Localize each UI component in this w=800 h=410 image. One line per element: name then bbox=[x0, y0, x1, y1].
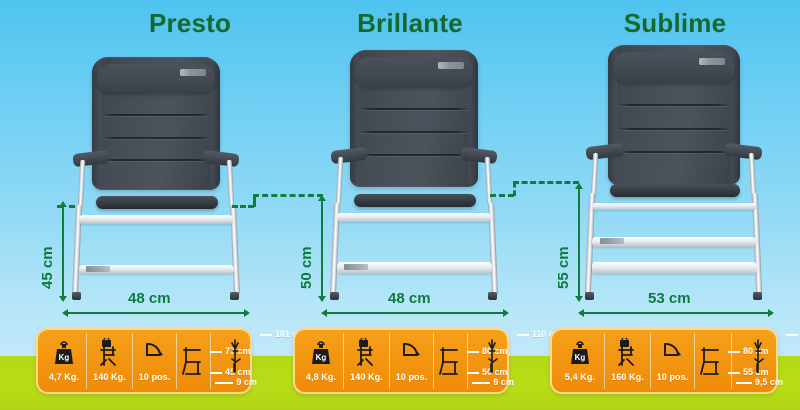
guide-line-presto-left bbox=[57, 205, 75, 208]
weight-value-sublime: 5,4 Kg. bbox=[565, 372, 595, 382]
chair-max-load-icon bbox=[615, 336, 641, 370]
spec-dimensions-sublime: 80 cm 55 cm bbox=[694, 333, 731, 389]
upper-crossbar bbox=[592, 203, 756, 210]
height-line-sublime bbox=[578, 188, 580, 298]
width-arrow-left-brillante bbox=[321, 309, 327, 317]
weight-kg-icon: Kg bbox=[309, 336, 333, 370]
seat-height-label-sublime: 55 cm bbox=[555, 246, 572, 289]
spec-dimensions-brillante: 80 cm 50 cm bbox=[433, 333, 467, 389]
frame-brand-logo-icon bbox=[86, 266, 110, 272]
cushion-seam bbox=[617, 151, 731, 153]
spec-maxload-presto: 140 Kg. bbox=[86, 333, 132, 389]
height-arrow-down-brillante bbox=[318, 296, 326, 302]
width-arrow-right-sublime bbox=[768, 309, 774, 317]
maxload-value-sublime: 160 Kg. bbox=[611, 372, 644, 382]
frame-brand-logo-icon bbox=[344, 264, 368, 270]
brand-logo-icon bbox=[699, 58, 725, 65]
folded-height-row-sublime: 115 cm bbox=[786, 329, 800, 339]
spec-maxload-brillante: 140 Kg. bbox=[343, 333, 389, 389]
foot-left bbox=[330, 292, 339, 300]
product-title-sublime: Sublime bbox=[575, 8, 775, 39]
chair-max-load-icon bbox=[97, 336, 123, 370]
comparison-infographic: Presto Brillante Sublime 45 cm 48 cm bbox=[0, 0, 800, 410]
cushion-seam bbox=[617, 128, 731, 130]
upper-crossbar bbox=[337, 213, 491, 222]
spec-weight-presto: Kg 4,7 Kg. bbox=[42, 333, 86, 389]
frame-brand-logo-icon bbox=[600, 238, 624, 244]
width-arrow-left-presto bbox=[62, 309, 68, 317]
spec-positions-presto: 10 pos. bbox=[132, 333, 176, 389]
foot-right bbox=[230, 292, 239, 300]
chair-max-load-icon bbox=[354, 336, 380, 370]
spec-positions-brillante: 10 pos. bbox=[389, 333, 433, 389]
cushion-seam bbox=[359, 131, 469, 133]
guide-line-to-sublime bbox=[513, 181, 579, 184]
brand-logo-icon bbox=[180, 69, 206, 76]
chair-side-dimensions-icon bbox=[181, 345, 207, 379]
headrest-cushion bbox=[613, 52, 734, 83]
spec-maxload-sublime: 160 Kg. bbox=[604, 333, 650, 389]
spec-positions-sublime: 10 pos. bbox=[650, 333, 694, 389]
folded-chair-dimensions-icon bbox=[484, 339, 502, 373]
folded-chair-dimensions-icon bbox=[227, 339, 245, 373]
weight-value-presto: 4,7 Kg. bbox=[49, 372, 79, 382]
chair-backrest-sublime bbox=[608, 45, 740, 185]
seat-height-label-presto: 45 cm bbox=[39, 246, 56, 289]
folded-width-row-sublime: 9,5 cm bbox=[736, 377, 783, 387]
chair-backrest-brillante bbox=[350, 50, 478, 187]
weight-value-brillante: 4,8 Kg. bbox=[306, 372, 336, 382]
guide-line-brillante-right bbox=[490, 194, 514, 197]
chair-side-dimensions-icon bbox=[699, 345, 725, 379]
spec-weight-sublime: Kg 5,4 Kg. bbox=[556, 333, 604, 389]
folded-width-row-presto: 9 cm bbox=[215, 377, 257, 387]
spec-weight-brillante: Kg 4,8 Kg. bbox=[299, 333, 343, 389]
weight-kg-icon: Kg bbox=[52, 336, 76, 370]
cushion-seam bbox=[101, 114, 211, 116]
foot-left bbox=[585, 292, 594, 300]
folded-width-row-brillante: 9 cm bbox=[472, 377, 514, 387]
guide-line-presto-right bbox=[232, 205, 254, 208]
guide-step-2 bbox=[513, 182, 516, 196]
chair-backrest-presto bbox=[92, 57, 220, 190]
positions-value-sublime: 10 pos. bbox=[657, 372, 689, 382]
foot-right bbox=[753, 292, 762, 300]
seat-brillante bbox=[354, 194, 476, 207]
spec-folded-brillante: 9 cm 110 cm bbox=[467, 333, 503, 389]
weight-kg-icon: Kg bbox=[568, 336, 592, 370]
width-arrow-left-sublime bbox=[578, 309, 584, 317]
height-arrow-up-sublime bbox=[575, 183, 583, 189]
cushion-seam bbox=[359, 108, 469, 110]
foot-left bbox=[72, 292, 81, 300]
product-title-presto: Presto bbox=[100, 8, 280, 39]
height-line-presto bbox=[62, 206, 64, 298]
spec-panel-sublime: Kg 5,4 Kg. 160 Kg. bbox=[550, 328, 778, 394]
width-arrow-right-presto bbox=[244, 309, 250, 317]
width-label-presto: 48 cm bbox=[128, 290, 171, 307]
spec-folded-sublime: 9,5 cm 115 cm bbox=[731, 333, 772, 389]
positions-value-brillante: 10 pos. bbox=[396, 372, 428, 382]
cushion-seam bbox=[617, 104, 731, 106]
maxload-value-presto: 140 Kg. bbox=[93, 372, 126, 382]
width-line-presto bbox=[68, 312, 244, 314]
height-arrow-down-sublime bbox=[575, 296, 583, 302]
lower-crossbar bbox=[592, 262, 757, 274]
width-line-sublime bbox=[584, 312, 768, 314]
product-title-brillante: Brillante bbox=[310, 8, 510, 39]
seat-presto bbox=[96, 196, 218, 209]
folded-chair-dimensions-icon bbox=[750, 339, 768, 373]
height-line-brillante bbox=[321, 200, 323, 298]
spec-dimensions-presto: 77 cm 45 cm bbox=[176, 333, 210, 389]
seat-height-label-brillante: 50 cm bbox=[298, 246, 315, 289]
svg-text:Kg: Kg bbox=[575, 353, 586, 362]
spec-folded-presto: 9 cm 101 cm bbox=[210, 333, 246, 389]
chair-side-dimensions-icon bbox=[438, 345, 464, 379]
recline-positions-icon bbox=[399, 336, 425, 370]
width-label-brillante: 48 cm bbox=[388, 290, 431, 307]
svg-text:Kg: Kg bbox=[316, 353, 327, 362]
width-arrow-right-brillante bbox=[503, 309, 509, 317]
width-label-sublime: 53 cm bbox=[648, 290, 691, 307]
upper-crossbar bbox=[79, 215, 233, 224]
positions-value-presto: 10 pos. bbox=[139, 372, 171, 382]
height-arrow-down-presto bbox=[59, 296, 67, 302]
svg-text:Kg: Kg bbox=[59, 353, 70, 362]
brand-logo-icon bbox=[438, 62, 464, 69]
folded-width-value-brillante: 9 cm bbox=[493, 377, 514, 387]
cushion-seam bbox=[359, 154, 469, 156]
width-line-brillante bbox=[327, 312, 503, 314]
folded-width-value-presto: 9 cm bbox=[236, 377, 257, 387]
folded-width-value-sublime: 9,5 cm bbox=[755, 377, 783, 387]
maxload-value-brillante: 140 Kg. bbox=[350, 372, 383, 382]
spec-panel-brillante: Kg 4,8 Kg. 140 Kg. bbox=[293, 328, 509, 394]
cushion-seam bbox=[101, 159, 211, 161]
recline-positions-icon bbox=[142, 336, 168, 370]
spec-panel-presto: Kg 4,7 Kg. 140 Kg. bbox=[36, 328, 252, 394]
recline-positions-icon bbox=[660, 336, 686, 370]
cushion-seam bbox=[101, 137, 211, 139]
seat-sublime bbox=[610, 184, 740, 197]
height-arrow-up-brillante bbox=[318, 195, 326, 201]
guide-line-to-brillante bbox=[253, 194, 323, 197]
foot-right bbox=[488, 292, 497, 300]
